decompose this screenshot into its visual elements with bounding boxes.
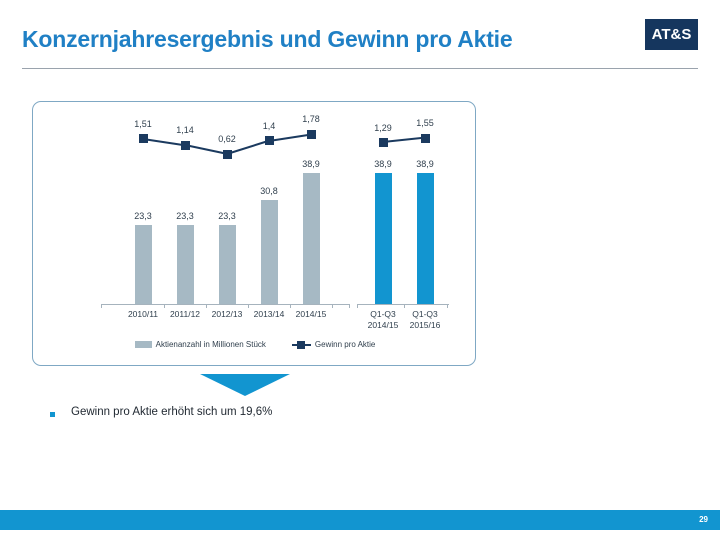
bullet-item: Gewinn pro Aktie erhöht sich um 19,6%: [50, 406, 272, 418]
bar-1[interactable]: [177, 225, 194, 304]
bar-0[interactable]: [135, 225, 152, 304]
line-value-label: 1,78: [291, 114, 331, 124]
legend-item-line: Gewinn pro Aktie: [292, 340, 375, 349]
x-axis-line-left: [101, 304, 349, 305]
bar-value-label: 23,3: [123, 211, 163, 221]
bar-6[interactable]: [417, 173, 434, 304]
ats-logo: AT&S: [645, 19, 698, 50]
bar-3[interactable]: [261, 200, 278, 304]
x-axis-tick: [349, 304, 350, 308]
bar-value-label: 23,3: [165, 211, 205, 221]
bullet-square-icon: [50, 412, 55, 417]
x-axis-tick: [248, 304, 249, 308]
bar-5[interactable]: [375, 173, 392, 304]
line-segment: [383, 137, 425, 144]
category-label: 2013/14: [245, 309, 293, 320]
footer-bar: [0, 510, 720, 530]
line-segment: [143, 138, 185, 147]
category-label: Q1-Q32015/16: [401, 309, 449, 331]
line-marker-6[interactable]: [421, 134, 430, 143]
line-marker-4[interactable]: [307, 130, 316, 139]
bar-value-label: 38,9: [291, 159, 331, 169]
legend-item-bars: Aktienanzahl in Millionen Stück: [135, 340, 266, 349]
chart-legend: Aktienanzahl in Millionen Stück Gewinn p…: [33, 340, 477, 349]
x-axis-tick: [332, 304, 333, 308]
down-arrow-icon: [200, 374, 290, 396]
legend-line-label: Gewinn pro Aktie: [315, 340, 375, 349]
bar-2[interactable]: [219, 225, 236, 304]
category-label: Q1-Q32014/15: [359, 309, 407, 331]
slide-canvas: Konzernjahresergebnis und Gewinn pro Akt…: [0, 0, 720, 540]
x-axis-line-right: [357, 304, 449, 305]
chart-container: 23,32010/1123,32011/1223,32012/1330,8201…: [32, 101, 476, 366]
category-label: 2010/11: [119, 309, 167, 320]
bar-value-label: 38,9: [363, 159, 403, 169]
x-axis-tick: [447, 304, 448, 308]
line-marker-5[interactable]: [379, 138, 388, 147]
line-marker-3[interactable]: [265, 136, 274, 145]
legend-line-swatch-icon: [292, 340, 311, 349]
x-axis-tick: [206, 304, 207, 308]
line-value-label: 1,55: [405, 118, 445, 128]
line-value-label: 0,62: [207, 134, 247, 144]
title-divider: [22, 68, 698, 69]
bar-4[interactable]: [303, 173, 320, 304]
x-axis-tick: [290, 304, 291, 308]
x-axis-tick: [357, 304, 358, 308]
line-value-label: 1,4: [249, 121, 289, 131]
legend-bar-swatch-icon: [135, 341, 152, 348]
x-axis-tick: [404, 304, 405, 308]
bullet-label: Gewinn pro Aktie erhöht sich um 19,6%: [71, 406, 272, 418]
line-value-label: 1,51: [123, 119, 163, 129]
line-marker-0[interactable]: [139, 134, 148, 143]
x-axis-tick: [101, 304, 102, 308]
page-title: Konzernjahresergebnis und Gewinn pro Akt…: [22, 26, 622, 53]
line-value-label: 1,29: [363, 123, 403, 133]
line-marker-1[interactable]: [181, 141, 190, 150]
page-number: 29: [699, 515, 708, 524]
chart-plot-area: 23,32010/1123,32011/1223,32012/1330,8201…: [33, 102, 477, 367]
line-value-label: 1,14: [165, 125, 205, 135]
bar-value-label: 38,9: [405, 159, 445, 169]
x-axis-tick: [164, 304, 165, 308]
category-label: 2014/15: [287, 309, 335, 320]
category-label: 2011/12: [161, 309, 209, 320]
line-segment: [185, 144, 227, 155]
line-marker-2[interactable]: [223, 150, 232, 159]
category-label: 2012/13: [203, 309, 251, 320]
line-segment: [269, 133, 311, 142]
legend-bar-label: Aktienanzahl in Millionen Stück: [156, 340, 266, 349]
bar-value-label: 30,8: [249, 186, 289, 196]
bar-value-label: 23,3: [207, 211, 247, 221]
